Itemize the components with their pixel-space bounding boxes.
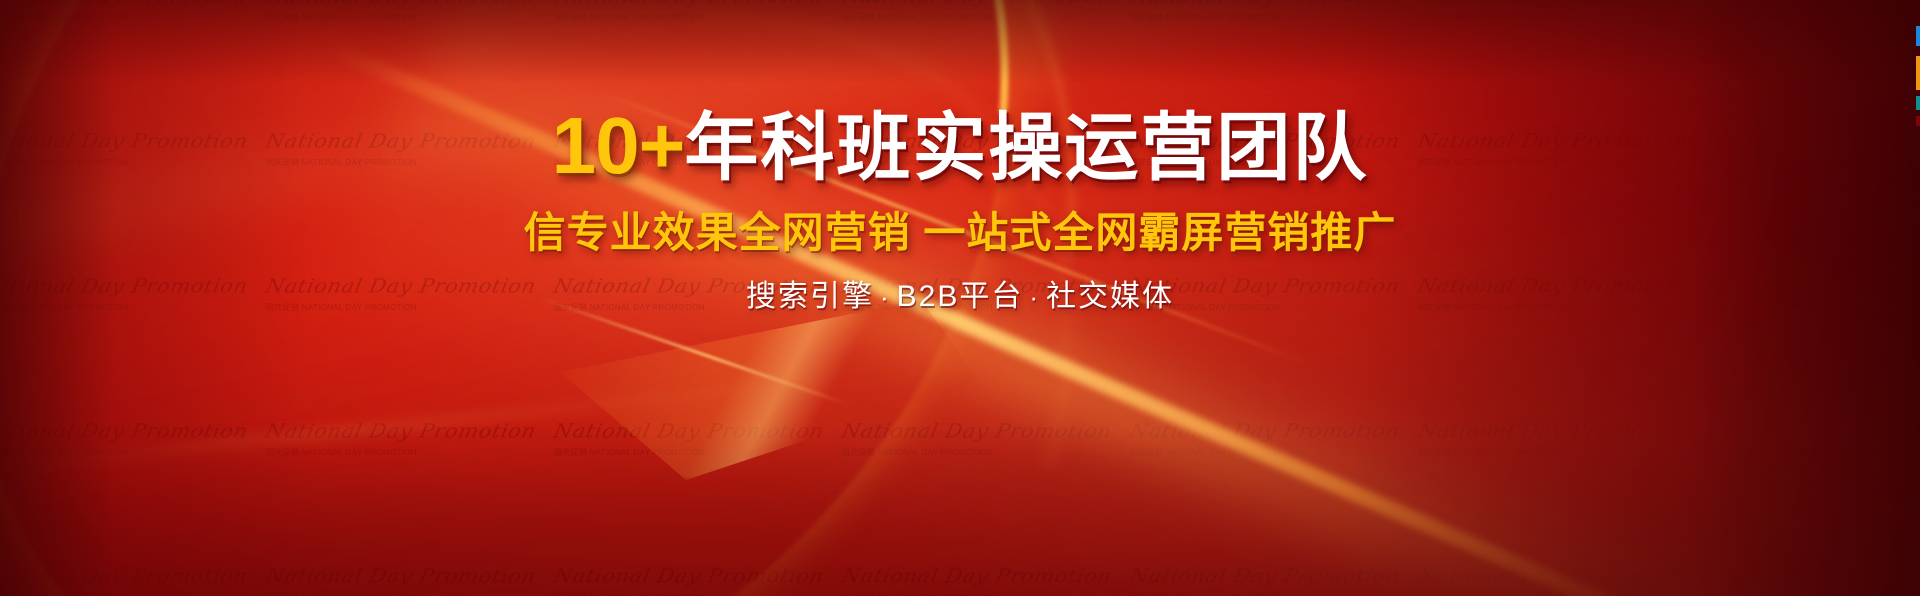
edge-artifact-blue <box>1916 26 1920 46</box>
headline-number: 10+ <box>552 101 685 190</box>
banner-subheadline: 信专业效果全网营销 一站式全网霸屏营销推广 <box>0 186 1920 254</box>
tagline-item-search-engine: 搜索引擎 <box>746 280 874 313</box>
tagline-separator-icon: · <box>874 282 897 312</box>
headline-text: 年科班实操运营团队 <box>684 106 1368 189</box>
right-edge-artifacts <box>1916 0 1920 596</box>
tagline-item-social-media: 社交媒体 <box>1046 280 1174 313</box>
edge-artifact-dark <box>1916 116 1920 126</box>
edge-artifact-teal <box>1916 96 1920 110</box>
banner-tagline: 搜索引擎·B2B平台·社交媒体 <box>0 254 1920 312</box>
tagline-separator-icon: · <box>1023 282 1046 312</box>
edge-artifact-orange <box>1916 56 1920 90</box>
promo-banner: National Day Promotion国庆促销 NATIONAL DAY … <box>0 0 1920 596</box>
banner-headline: 10+年科班实操运营团队 <box>0 0 1920 186</box>
banner-content: 10+年科班实操运营团队 信专业效果全网营销 一站式全网霸屏营销推广 搜索引擎·… <box>0 0 1920 312</box>
tagline-item-b2b-platform: B2B平台 <box>897 280 1024 313</box>
